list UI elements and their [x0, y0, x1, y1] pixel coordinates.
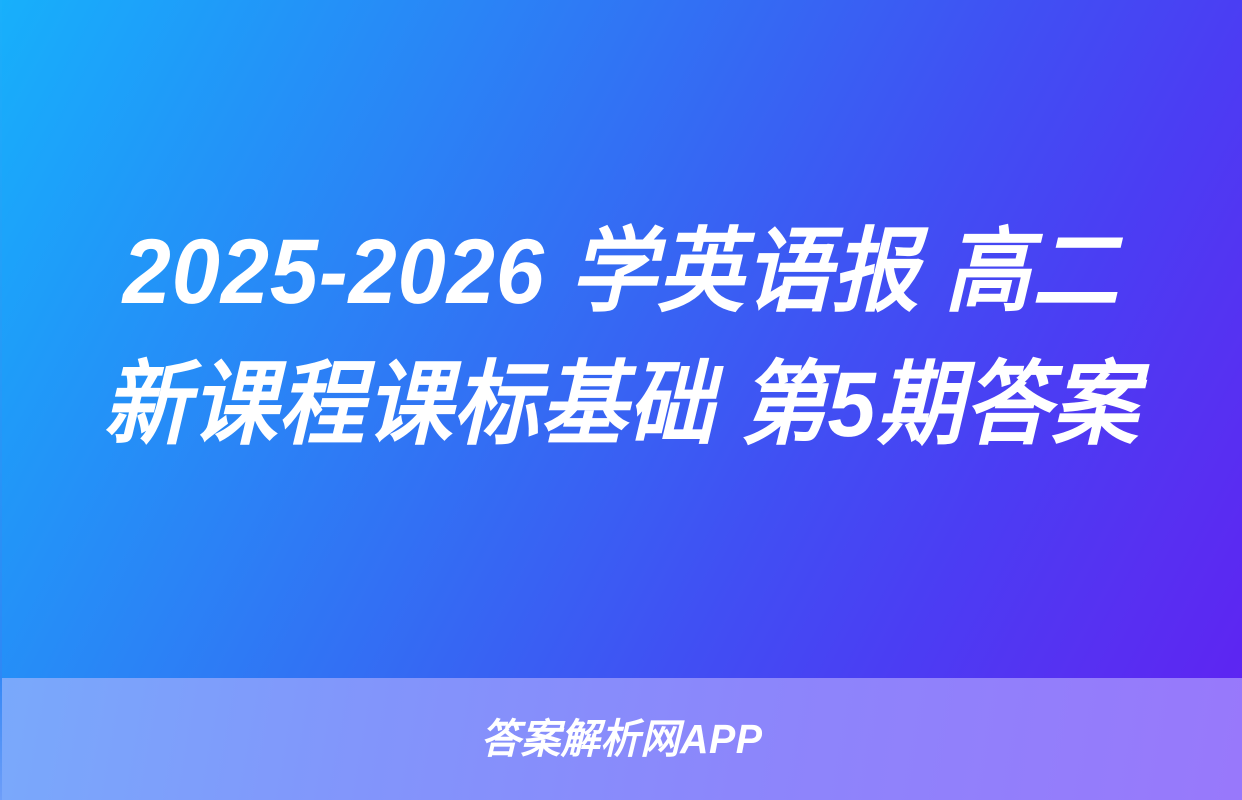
hero-gradient-panel: 2025-2026 学英语报 高二 新课程课标基础 第5期答案 — [0, 0, 1242, 678]
page-title: 2025-2026 学英语报 高二 新课程课标基础 第5期答案 — [95, 206, 1148, 473]
poster-canvas: 2025-2026 学英语报 高二 新课程课标基础 第5期答案 答案解析网APP — [0, 0, 1242, 800]
watermark-band: 答案解析网APP — [0, 678, 1242, 800]
left-edge-strip — [0, 0, 2, 800]
app-watermark-label: 答案解析网APP — [481, 719, 763, 760]
